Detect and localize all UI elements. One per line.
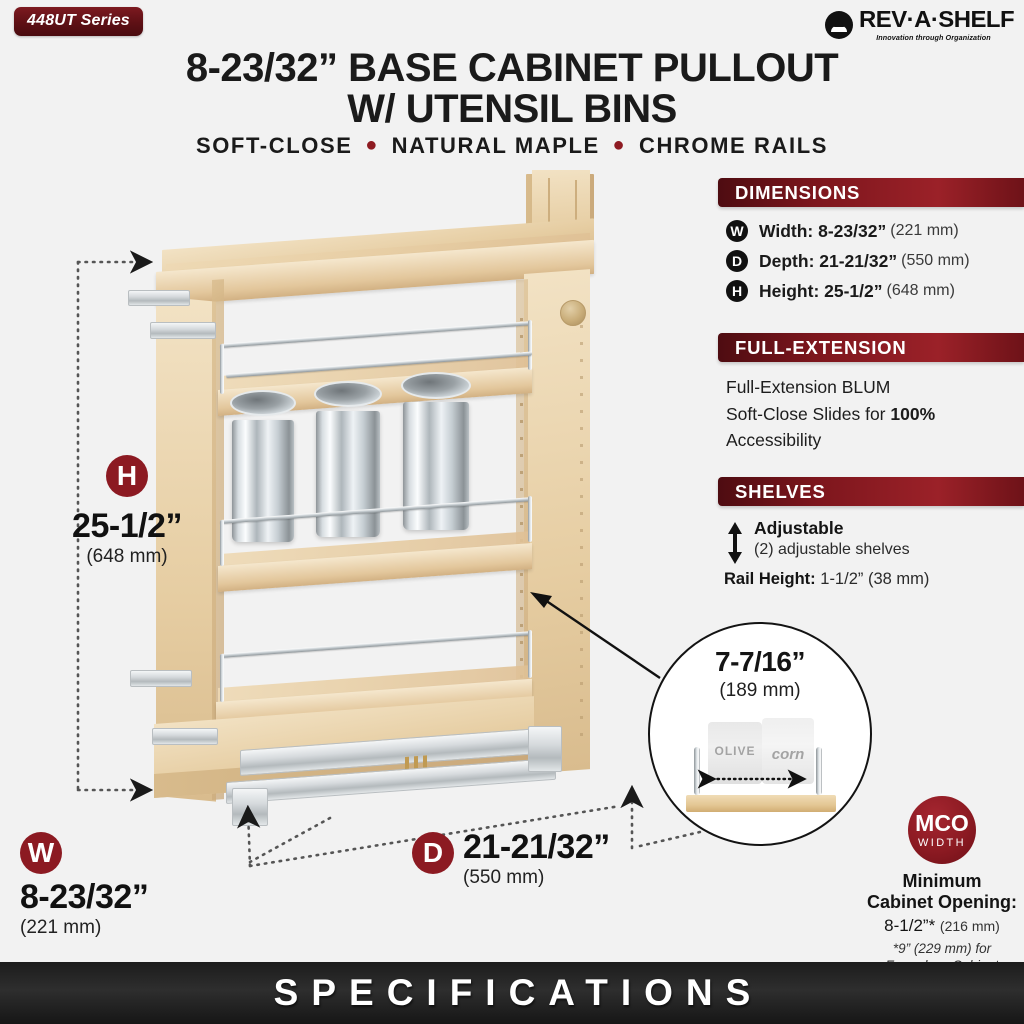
mco-title: Minimum Cabinet Opening: (864, 871, 1020, 913)
side-mount-bracket (130, 670, 192, 687)
shelves-section-header: SHELVES (718, 477, 1024, 506)
dimensions-section-header: DIMENSIONS (718, 178, 1024, 207)
mco-value: 8-1/2”* (884, 916, 935, 935)
subtitle-feature-2: NATURAL MAPLE (392, 133, 600, 158)
full-extension-line-1: Full-Extension BLUM (726, 377, 890, 397)
adjustable-row: Adjustable (2) adjustable shelves (724, 518, 1024, 566)
height-dimension-label: Height: 25-1/2” (759, 281, 883, 302)
width-letter-icon: W (726, 220, 748, 242)
mco-callout: MCO WIDTH Minimum Cabinet Opening: 8-1/2… (864, 796, 1020, 975)
callout-measure-arrow (650, 624, 870, 844)
depth-letter-icon: D (726, 250, 748, 272)
mco-note-line-1: *9” (229 mm) for (893, 941, 991, 956)
rev-a-shelf-arch-logo-icon (824, 10, 854, 40)
logo-tagline: Innovation through Organization (876, 33, 991, 42)
footer-label: SPECIFICATIONS (261, 972, 764, 1014)
page-subtitle: SOFT-CLOSE ● NATURAL MAPLE ● CHROME RAIL… (0, 133, 1024, 159)
side-mount-bracket (128, 290, 190, 306)
logo-wordmark: REV·A·SHELF (859, 8, 1014, 31)
bullet-separator-icon: ● (360, 134, 384, 156)
full-extension-line-2a: Soft-Close Slides for (726, 404, 890, 424)
side-mount-bracket (152, 728, 218, 745)
depth-badge: D (412, 832, 454, 874)
depth-dimension-label: Depth: 21-21/32” (759, 251, 897, 272)
full-extension-line-3: Accessibility (726, 430, 821, 450)
width-callout: W 8-23/32” (221 mm) (20, 832, 200, 939)
footer-bar: SPECIFICATIONS (0, 962, 1024, 1024)
brand-logo: REV·A·SHELF Innovation through Organizat… (824, 8, 1008, 42)
brand-medallion-icon (560, 300, 586, 326)
bullet-separator-icon: ● (608, 134, 632, 156)
height-value-mm: (648 mm) (42, 546, 212, 568)
dimension-row: W Width: 8-23/32” (221 mm) (726, 216, 970, 246)
height-letter-icon: H (726, 280, 748, 302)
mco-value-mm: (216 mm) (940, 918, 1000, 934)
subtitle-feature-1: SOFT-CLOSE (196, 133, 353, 158)
dimensions-list: W Width: 8-23/32” (221 mm) D Depth: 21-2… (726, 216, 970, 306)
rail-height-label: Rail Height: (724, 570, 816, 588)
mco-title-line-1: Minimum (903, 871, 982, 891)
full-extension-highlight: 100% (890, 404, 935, 424)
full-extension-section-header: FULL-EXTENSION (718, 333, 1024, 362)
depth-callout: D 21-21/32” (550 mm) (412, 830, 610, 889)
dimensions-heading: DIMENSIONS (718, 182, 860, 204)
dimension-row: D Depth: 21-21/32” (550 mm) (726, 246, 970, 276)
height-callout: H 25-1/2” (648 mm) (42, 455, 212, 568)
side-mount-bracket (150, 322, 216, 339)
page-title: 8-23/32” BASE CABINET PULLOUT W/ UTENSIL… (0, 48, 1024, 130)
width-badge: W (20, 832, 62, 874)
title-line-1: 8-23/32” BASE CABINET PULLOUT (186, 46, 838, 90)
mco-value-row: 8-1/2”* (216 mm) (864, 916, 1020, 936)
dimension-row: H Height: 25-1/2” (648 mm) (726, 276, 970, 306)
width-value: 8-23/32” (20, 880, 200, 916)
shelves-heading: SHELVES (718, 481, 826, 503)
full-extension-description: Full-Extension BLUM Soft-Close Slides fo… (726, 374, 1016, 454)
depth-value-mm: (550 mm) (463, 867, 610, 889)
shelves-description: Adjustable (2) adjustable shelves Rail H… (724, 518, 1024, 589)
depth-dimension-mm: (550 mm) (901, 252, 969, 270)
rail-height-row: Rail Height: 1-1/2” (38 mm) (724, 570, 1024, 589)
width-dimension-mm: (221 mm) (890, 222, 958, 240)
height-value: 25-1/2” (42, 509, 212, 545)
mco-badge: MCO WIDTH (908, 796, 976, 864)
rail-height-value: 1-1/2” (38 mm) (820, 570, 929, 588)
depth-value: 21-21/32” (463, 830, 610, 866)
up-down-arrow-icon (724, 520, 746, 566)
height-dimension-mm: (648 mm) (887, 282, 955, 300)
adjustable-title: Adjustable (754, 518, 910, 538)
adjustable-subtitle: (2) adjustable shelves (754, 540, 910, 561)
spec-sheet-page: 448UT Series REV·A·SHELF Innovation thro… (0, 0, 1024, 1024)
height-badge: H (106, 455, 148, 497)
width-value-mm: (221 mm) (20, 917, 200, 939)
mco-title-line-2: Cabinet Opening: (867, 892, 1017, 912)
series-badge: 448UT Series (14, 7, 143, 36)
shelf-width-callout: 7-7/16” (189 mm) OLIVE corn (648, 622, 872, 846)
subtitle-feature-3: CHROME RAILS (639, 133, 828, 158)
mco-badge-line-1: MCO (915, 812, 969, 835)
full-extension-heading: FULL-EXTENSION (718, 337, 907, 359)
title-line-2: W/ UTENSIL BINS (0, 89, 1024, 130)
mco-badge-line-2: WIDTH (918, 837, 966, 849)
width-dimension-label: Width: 8-23/32” (759, 221, 886, 242)
